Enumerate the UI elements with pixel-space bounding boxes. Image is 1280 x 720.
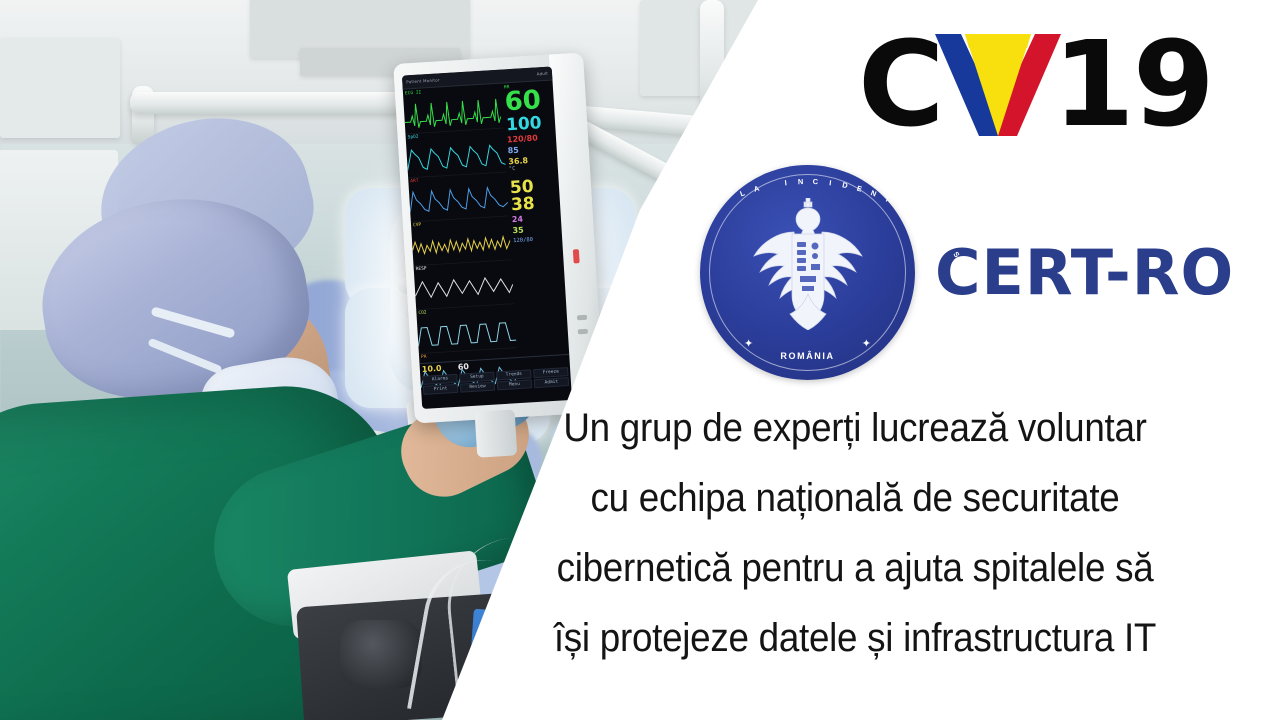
monitor-screen[interactable]: Patient Monitor Adult ECG II SpO2: [402, 66, 572, 409]
numeric-value: 60: [504, 88, 552, 116]
menu-cell[interactable]: Admit: [534, 377, 569, 388]
caption-block: Un grup de experți lucrează voluntar cu …: [440, 408, 1270, 658]
cv19-number: 19: [1053, 25, 1213, 143]
ceiling-panel-left: [0, 38, 120, 138]
cert-ro-seal: CENTRUL NATIONAL DE RĂSPUNS LA INCIDENTE…: [700, 165, 915, 380]
resp-waveform-icon: [414, 266, 514, 308]
cvp-waveform-icon: [411, 222, 511, 264]
co2-waveform-icon: [417, 310, 517, 352]
waveform-row: RESP: [414, 260, 515, 310]
waveform-row: CO2: [416, 304, 517, 354]
cv19-logo: C 19: [858, 28, 1248, 140]
monitor-lower-panel: 10.0 60 Alarms Setup Trends Freeze Print…: [419, 354, 572, 409]
art-waveform-icon: [409, 178, 509, 220]
numeric-value: 120/80: [513, 235, 560, 244]
numeric-value: 120/80: [507, 133, 554, 145]
romanian-flag-chevron-icon: [935, 32, 1061, 136]
numeric-value: 38: [511, 195, 559, 215]
numeric-value: 85: [507, 144, 554, 156]
menu-cell[interactable]: Print: [423, 384, 458, 395]
numeric-block-pap: 50 38: [510, 178, 559, 215]
numeric-block-cvp: 85: [507, 144, 554, 156]
romanian-eagle-icon: [744, 198, 872, 330]
caption-line-3: cibernetică pentru a ajuta spitalele să: [473, 548, 1237, 588]
caption-line-1: Un grup de experți lucrează voluntar: [473, 408, 1237, 448]
ecg-waveform-icon: [403, 91, 503, 133]
numeric-block-rr: 120/80: [513, 235, 560, 244]
monitor-port: [577, 315, 587, 321]
waveform-row: ECG II: [403, 85, 504, 135]
numeric-block-co2: 35: [512, 224, 559, 236]
poster-canvas: Patient Monitor Adult ECG II SpO2: [0, 0, 1280, 720]
numeric-value: 100: [506, 114, 554, 134]
numeric-block-spo2: 100: [506, 114, 554, 134]
numeric-block-hr: HR 60: [504, 83, 553, 116]
monitor-port-2: [578, 329, 588, 335]
lower-numeric-value-2: 60: [458, 362, 482, 372]
seal-star-right: ✦: [862, 339, 871, 350]
caption-line-4: își protejeze datele și infrastructura I…: [473, 618, 1237, 658]
monitor-header-left: Patient Monitor: [406, 77, 440, 84]
waveform-row: ART: [408, 172, 509, 222]
numeric-block-art: 120/80: [507, 133, 554, 145]
seal-star-left: ✦: [744, 339, 753, 350]
menu-cell[interactable]: Menu: [497, 379, 532, 390]
patient-monitor[interactable]: Patient Monitor Adult ECG II SpO2: [393, 53, 605, 424]
waveform-row: CVP: [411, 216, 512, 266]
caption-line-2: cu echipa națională de securitate: [473, 478, 1237, 518]
monitor-header-right: Adult: [536, 71, 548, 77]
spo2-waveform-icon: [406, 135, 506, 177]
waveform-row: SpO2: [406, 129, 507, 179]
menu-cell[interactable]: Review: [460, 381, 495, 392]
equipment-knob: [340, 620, 422, 688]
numeric-value: 35: [512, 224, 559, 236]
numeric-value: 24: [512, 214, 559, 226]
power-led-icon: [573, 249, 580, 263]
cv19-letter-c: C: [858, 25, 941, 143]
cert-ro-lockup: CENTRUL NATIONAL DE RĂSPUNS LA INCIDENTE…: [700, 160, 1260, 385]
numeric-block-nibp: 24: [512, 214, 559, 226]
seal-country-label: ROMÂNIA: [700, 351, 915, 361]
numeric-block-temp: 36.8 °C: [508, 155, 556, 173]
